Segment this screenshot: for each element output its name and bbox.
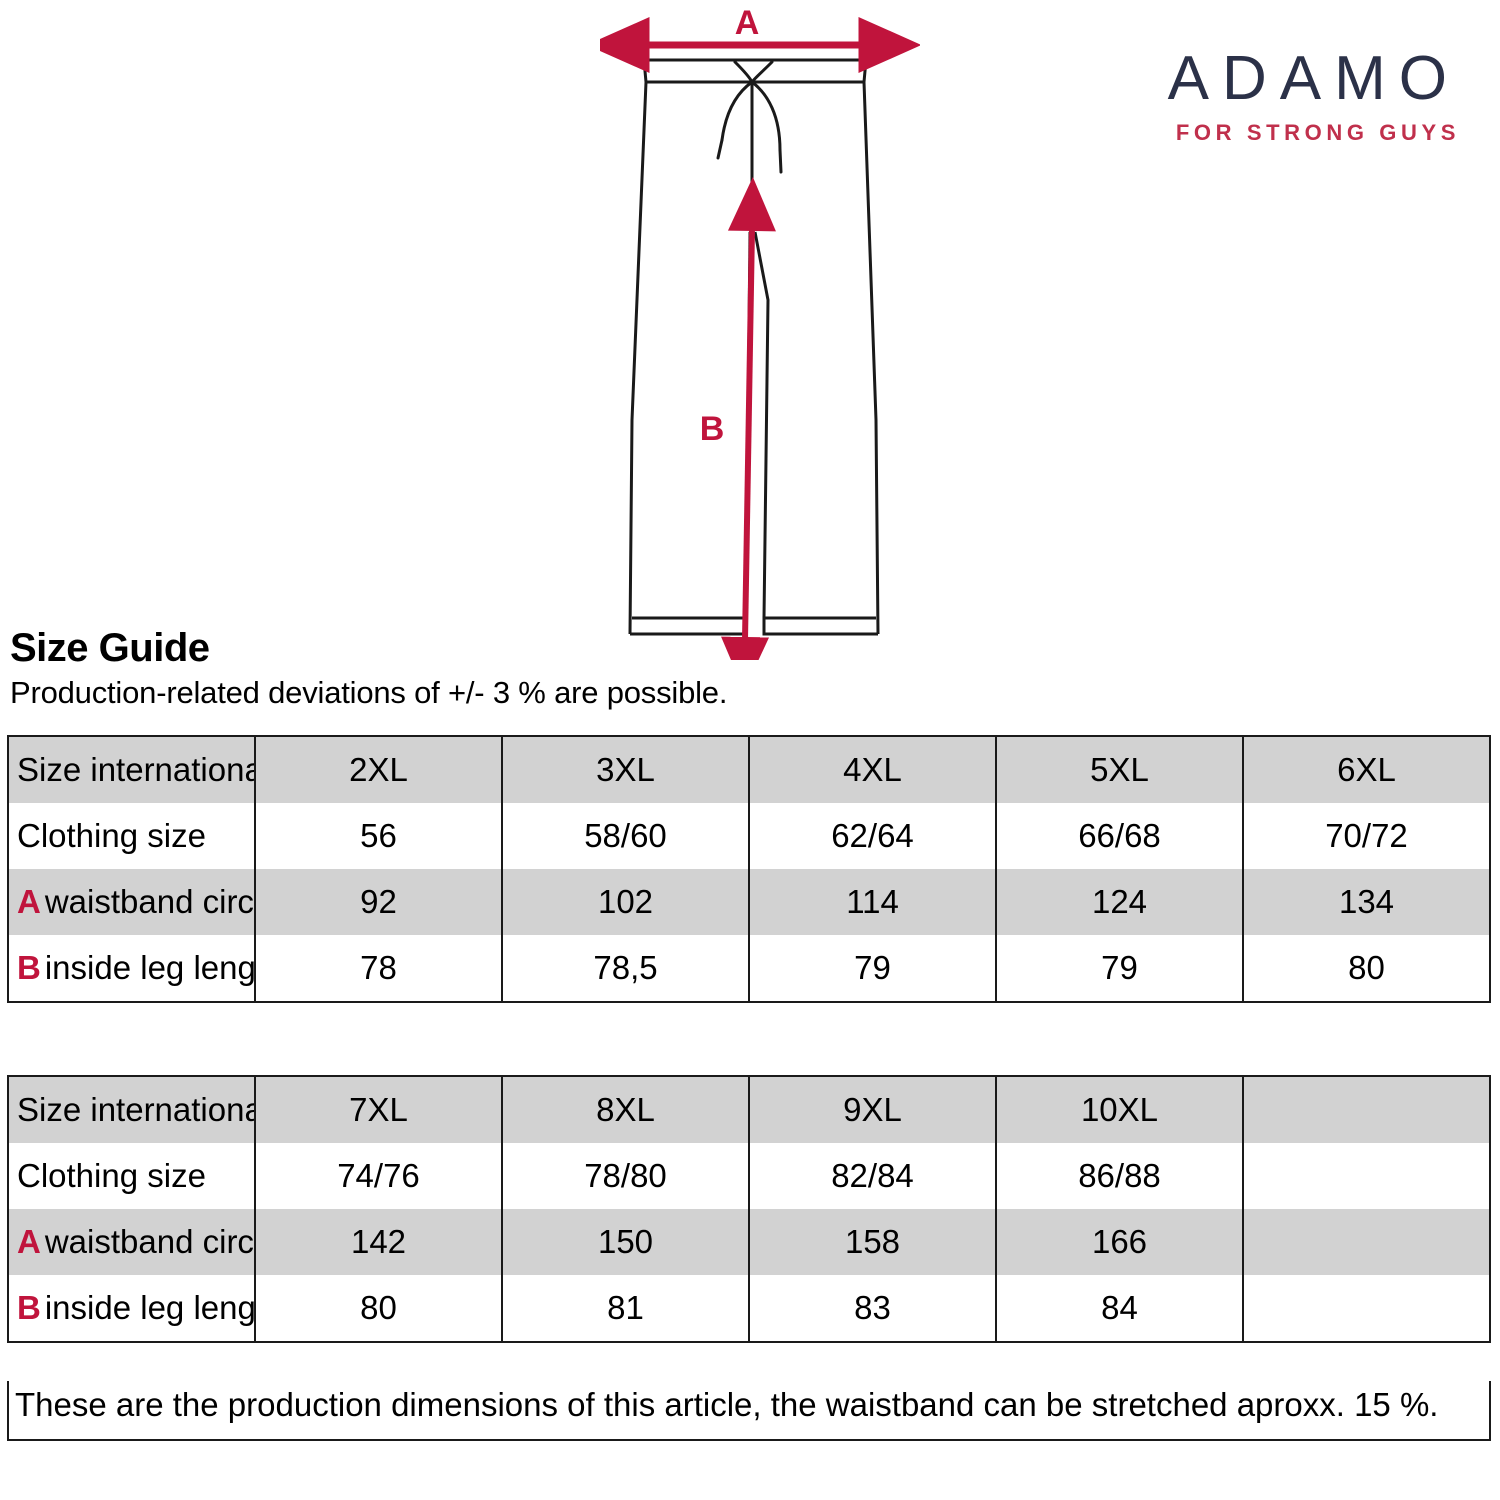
marker-a: A	[17, 883, 45, 920]
cell-waistband: 134	[1243, 869, 1490, 935]
size-table-secondary: Size international 7XL 8XL 9XL 10XL Clot…	[7, 1075, 1491, 1343]
row-label-clothing-size: Clothing size	[8, 803, 255, 869]
cell-size-empty	[1243, 1076, 1490, 1143]
cell-inseam: 78,5	[502, 935, 749, 1002]
cell-size: 10XL	[996, 1076, 1243, 1143]
cell-inseam: 84	[996, 1275, 1243, 1342]
row-label-inseam-text: inside leg length (cm)	[45, 1289, 255, 1326]
cell-waistband: 102	[502, 869, 749, 935]
cell-clothing-size-empty	[1243, 1143, 1490, 1209]
cell-clothing-size: 78/80	[502, 1143, 749, 1209]
cell-size: 8XL	[502, 1076, 749, 1143]
page-subtitle: Production-related deviations of +/- 3 %…	[10, 675, 727, 711]
cell-clothing-size: 82/84	[749, 1143, 996, 1209]
row-label-waistband: Awaistband circumference (cm)	[8, 869, 255, 935]
cell-inseam: 78	[255, 935, 502, 1002]
cell-waistband: 142	[255, 1209, 502, 1275]
marker-b: B	[17, 1289, 45, 1326]
row-label-waistband-text: waistband circumference (cm)	[45, 1223, 255, 1260]
measure-a-label: A	[735, 4, 760, 42]
trousers-diagram: A B	[600, 0, 920, 660]
table-row: Binside leg length (cm) 80 81 83 84	[8, 1275, 1490, 1342]
cell-clothing-size: 56	[255, 803, 502, 869]
table-row: Size international 2XL 3XL 4XL 5XL 6XL	[8, 736, 1490, 803]
table-row: Clothing size 56 58/60 62/64 66/68 70/72	[8, 803, 1490, 869]
row-label-size-international: Size international	[8, 736, 255, 803]
cell-clothing-size: 86/88	[996, 1143, 1243, 1209]
cell-waistband: 92	[255, 869, 502, 935]
cell-waistband: 158	[749, 1209, 996, 1275]
cell-size: 6XL	[1243, 736, 1490, 803]
row-label-clothing-size: Clothing size	[8, 1143, 255, 1209]
measure-b-arrow	[745, 228, 752, 640]
cell-inseam: 80	[1243, 935, 1490, 1002]
marker-b: B	[17, 949, 45, 986]
table-row: Awaistband circumference (cm) 92 102 114…	[8, 869, 1490, 935]
cell-inseam: 79	[749, 935, 996, 1002]
size-table-primary: Size international 2XL 3XL 4XL 5XL 6XL C…	[7, 735, 1491, 1003]
cell-clothing-size: 62/64	[749, 803, 996, 869]
row-label-inseam: Binside leg length (cm)	[8, 935, 255, 1002]
cell-inseam-empty	[1243, 1275, 1490, 1342]
cell-waistband: 124	[996, 869, 1243, 935]
cell-size: 3XL	[502, 736, 749, 803]
marker-a: A	[17, 1223, 45, 1260]
cell-size: 4XL	[749, 736, 996, 803]
cell-inseam: 79	[996, 935, 1243, 1002]
table-row: Binside leg length (cm) 78 78,5 79 79 80	[8, 935, 1490, 1002]
brand-logo: ADAMO FOR STRONG GUYS	[1080, 48, 1460, 146]
cell-clothing-size: 66/68	[996, 803, 1243, 869]
row-label-waistband: Awaistband circumference (cm)	[8, 1209, 255, 1275]
row-label-inseam-text: inside leg length (cm)	[45, 949, 255, 986]
cell-waistband: 114	[749, 869, 996, 935]
table-row: Clothing size 74/76 78/80 82/84 86/88	[8, 1143, 1490, 1209]
measure-b-label: B	[700, 410, 725, 448]
cell-clothing-size: 70/72	[1243, 803, 1490, 869]
brand-tagline: FOR STRONG GUYS	[1080, 120, 1460, 146]
page-title: Size Guide	[10, 626, 210, 671]
cell-size: 5XL	[996, 736, 1243, 803]
cell-inseam: 83	[749, 1275, 996, 1342]
row-label-waistband-text: waistband circumference (cm)	[45, 883, 255, 920]
table-row: Size international 7XL 8XL 9XL 10XL	[8, 1076, 1490, 1143]
row-label-size-international: Size international	[8, 1076, 255, 1143]
cell-waistband-empty	[1243, 1209, 1490, 1275]
cell-inseam: 81	[502, 1275, 749, 1342]
table-row: Awaistband circumference (cm) 142 150 15…	[8, 1209, 1490, 1275]
cell-size: 9XL	[749, 1076, 996, 1143]
brand-wordmark: ADAMO	[1080, 48, 1460, 110]
cell-size: 2XL	[255, 736, 502, 803]
cell-clothing-size: 58/60	[502, 803, 749, 869]
cell-inseam: 80	[255, 1275, 502, 1342]
cell-waistband: 166	[996, 1209, 1243, 1275]
row-label-inseam: Binside leg length (cm)	[8, 1275, 255, 1342]
cell-size: 7XL	[255, 1076, 502, 1143]
cell-clothing-size: 74/76	[255, 1143, 502, 1209]
footer-note: These are the production dimensions of t…	[7, 1381, 1491, 1441]
cell-waistband: 150	[502, 1209, 749, 1275]
